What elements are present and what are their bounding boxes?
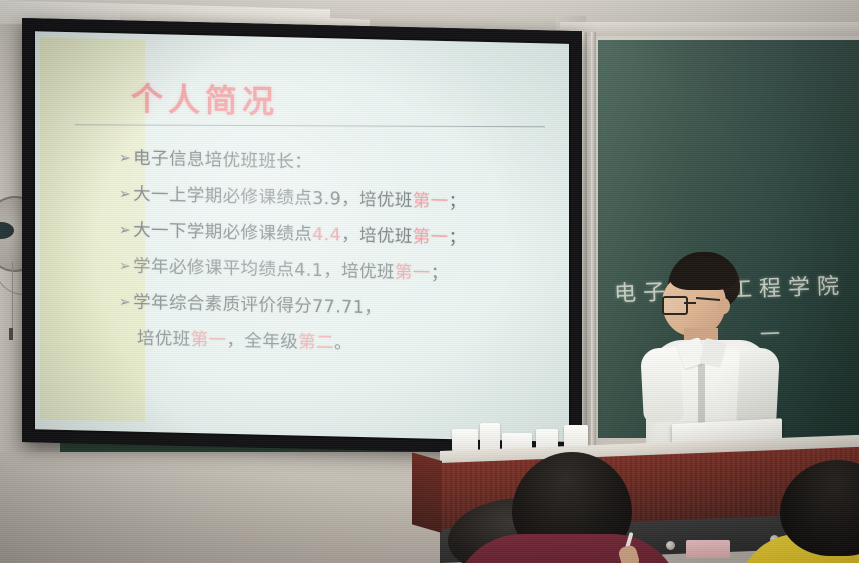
bullet-6-seg-4: 第二 [298,333,334,354]
slide-title: 个人简况 [131,74,279,123]
bullet-3-seg-5: ； [449,228,467,248]
bullet-marker-icon: ➢ [119,249,131,284]
student-yellow [760,460,859,563]
podium-item-box-1 [452,429,478,451]
bullet-4-seg-2: 第一 [395,263,431,284]
bullet-marker-icon: ➢ [119,141,131,176]
bullet-6-seg-1: 培优班 [137,329,191,350]
bullet-5-seg-1: 学年综合素质评价得分77.71， [133,293,382,319]
desk-paper [686,540,730,558]
bullet-marker-icon: ➢ [119,213,131,248]
bullet-3-seg-1: 大一下学期必修课绩点 [133,221,312,245]
presenter-sleeve-right [736,347,780,427]
presenter-sleeve-left [640,347,684,423]
bullet-marker-icon: ➢ [119,285,131,320]
blackboard-frame-top [560,22,859,36]
bullet-3-seg-2: 4.4 [312,225,341,246]
bullet-1-seg-1: 电子信息培优班班长： [133,149,312,173]
bullet-4-seg-3: ； [431,264,449,284]
screen-surface: 个人简况 ➢电子信息培优班班长： ➢大一上学期必修课绩点3.9，培优班第一； ➢… [35,31,569,442]
slide-title-rule [75,124,545,127]
presentation-slide: 个人简况 ➢电子信息培优班班长： ➢大一上学期必修课绩点3.9，培优班第一； ➢… [35,31,569,442]
student-maroon-torso [452,534,682,563]
glasses-icon [662,296,688,315]
bullet-3-seg-4: 第一 [413,227,449,248]
podium-item-box-2 [480,423,500,451]
bullet-marker-icon: ➢ [119,177,131,212]
projection-screen: 个人简况 ➢电子信息培优班班长： ➢大一上学期必修课绩点3.9，培优班第一； ➢… [22,18,582,455]
bullet-2-seg-3: ； [449,192,467,212]
bullet-6-seg-3: ，全年级 [227,331,299,353]
bullet-2-seg-1: 大一上学期必修课绩点3.9，培优班 [133,185,413,212]
bullet-3-seg-3: ，培优班 [341,226,413,248]
slide-bullet-list: ➢电子信息培优班班长： ➢大一上学期必修课绩点3.9，培优班第一； ➢大一下学期… [119,141,559,366]
fan-cord [12,262,13,330]
fan-switch[interactable] [9,328,13,340]
bullet-6-seg-5: 。 [334,333,352,353]
student-yellow-head [780,460,859,556]
glasses-bridge [684,302,696,304]
bullet-2-seg-2: 第一 [413,191,449,212]
bullet-4-seg-1: 学年必修课平均绩点4.1，培优班 [133,257,395,283]
lower-wall [0,452,470,563]
classroom-scene: 电子信息工程学院 一 个人简况 ➢电子信息培优班班长： [0,0,859,563]
student-maroon [452,452,682,563]
bullet-6-seg-2: 第一 [191,330,227,351]
